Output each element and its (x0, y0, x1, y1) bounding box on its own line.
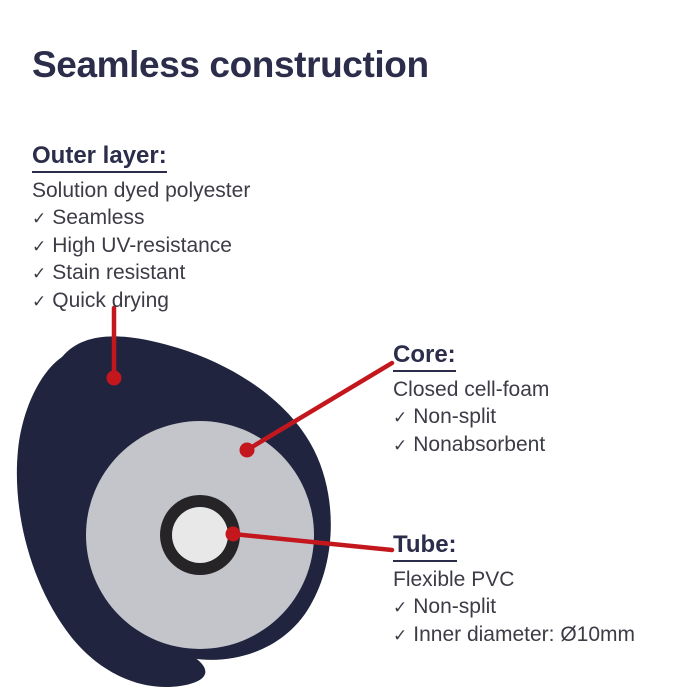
list-item: ✓ Inner diameter: Ø10mm (393, 621, 635, 649)
check-icon: ✓ (32, 293, 46, 310)
list-item-label: Quick drying (52, 287, 169, 315)
callout-core: Core: Closed cell-foam ✓ Non-split ✓ Non… (393, 342, 549, 458)
list-item-label: Nonabsorbent (413, 431, 545, 459)
rope-cross-section-diagram (0, 300, 420, 700)
callout-tube-feature-list: ✓ Non-split ✓ Inner diameter: Ø10mm (393, 593, 635, 648)
list-item: ✓ Stain resistant (32, 259, 250, 287)
infographic-canvas: Seamless construction (0, 0, 700, 700)
page-title: Seamless construction (32, 44, 429, 86)
callout-tube-subtitle: Flexible PVC (393, 566, 635, 594)
list-item-label: High UV-resistance (52, 232, 232, 260)
check-icon: ✓ (393, 409, 407, 426)
check-icon: ✓ (32, 265, 46, 282)
list-item-label: Seamless (52, 204, 144, 232)
callout-outer-layer-subtitle: Solution dyed polyester (32, 177, 250, 205)
list-item: ✓ Nonabsorbent (393, 431, 549, 459)
callout-core-heading: Core: (393, 342, 456, 372)
list-item: ✓ Quick drying (32, 287, 250, 315)
check-icon: ✓ (393, 627, 407, 644)
callout-core-feature-list: ✓ Non-split ✓ Nonabsorbent (393, 403, 549, 458)
list-item: ✓ Seamless (32, 204, 250, 232)
list-item: ✓ High UV-resistance (32, 232, 250, 260)
callout-tube: Tube: Flexible PVC ✓ Non-split ✓ Inner d… (393, 532, 635, 648)
list-item-label: Non-split (413, 403, 496, 431)
list-item-label: Stain resistant (52, 259, 185, 287)
callout-core-subtitle: Closed cell-foam (393, 376, 549, 404)
callout-tube-heading: Tube: (393, 532, 457, 562)
check-icon: ✓ (32, 210, 46, 227)
callout-outer-layer: Outer layer: Solution dyed polyester ✓ S… (32, 143, 250, 314)
callout-outer-layer-heading: Outer layer: (32, 143, 167, 173)
list-item-label: Inner diameter: Ø10mm (413, 621, 635, 649)
list-item: ✓ Non-split (393, 403, 549, 431)
list-item: ✓ Non-split (393, 593, 635, 621)
check-icon: ✓ (393, 437, 407, 454)
list-item-label: Non-split (413, 593, 496, 621)
check-icon: ✓ (32, 238, 46, 255)
callout-outer-layer-feature-list: ✓ Seamless ✓ High UV-resistance ✓ Stain … (32, 204, 250, 314)
tube-bore (172, 507, 228, 563)
check-icon: ✓ (393, 599, 407, 616)
